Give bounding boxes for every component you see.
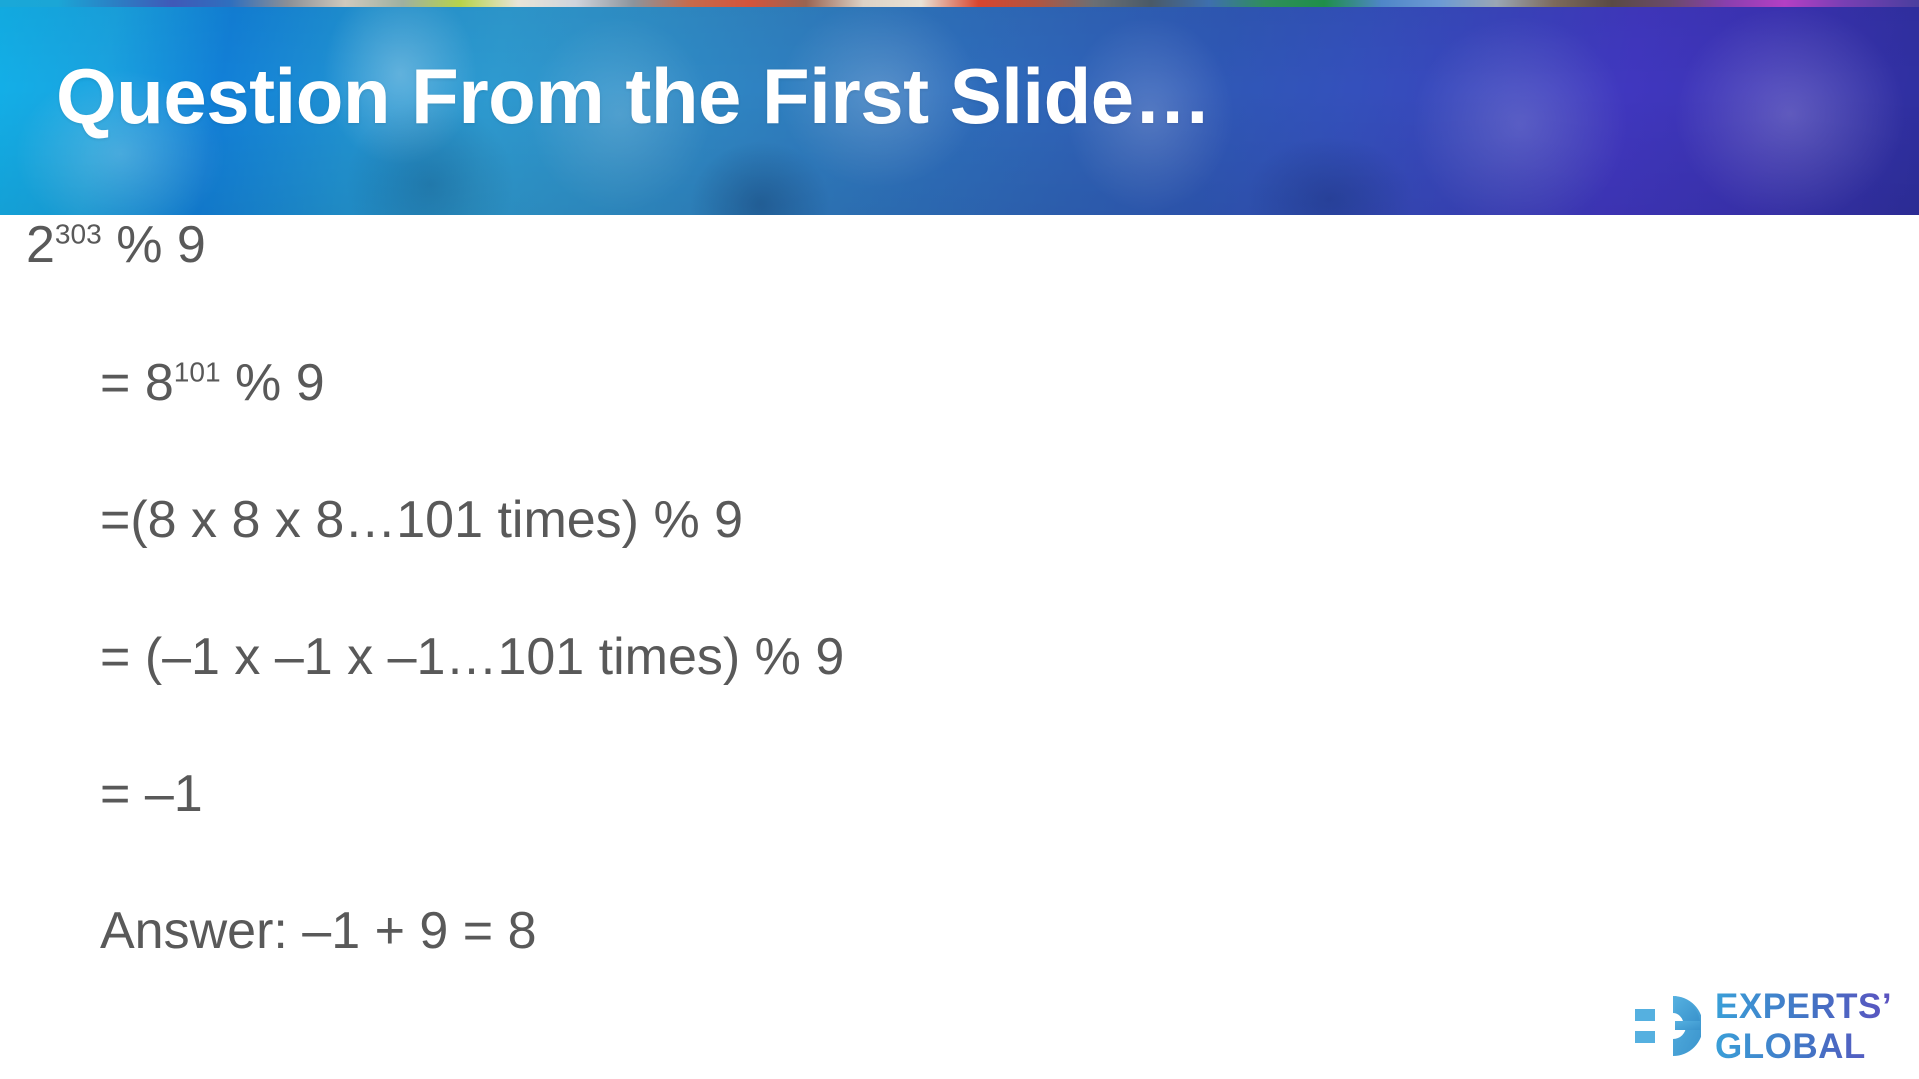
logo-line-global: GLOBAL <box>1715 1029 1892 1064</box>
page-title: Question From the First Slide… <box>56 48 1211 144</box>
equation-exponent: 101 <box>174 357 221 388</box>
equation-line-1: 2303 % 9 <box>26 215 206 275</box>
equation-line-2: = 8101 % 9 <box>100 353 325 413</box>
equation-base: = 8 <box>100 354 174 412</box>
slide: Question From the First Slide… 2303 % 9 … <box>0 0 1919 1079</box>
experts-global-logo: EXPERTS’ GLOBAL <box>1635 983 1895 1069</box>
logo-wordmark: EXPERTS’ GLOBAL <box>1715 989 1892 1064</box>
experts-global-g-mark-icon <box>1635 995 1701 1057</box>
equation-line-4: = (–1 x –1 x –1…101 times) % 9 <box>100 627 844 687</box>
equation-tail: % 9 <box>221 354 325 412</box>
equation-tail: % 9 <box>102 216 206 274</box>
equation-base: = (–1 x –1 x –1…101 times) % 9 <box>100 628 844 686</box>
logo-line-experts: EXPERTS’ <box>1715 989 1892 1024</box>
answer-line: Answer: –1 + 9 = 8 <box>100 901 537 961</box>
equation-line-5: = –1 <box>100 764 203 824</box>
equation-base: = –1 <box>100 765 203 823</box>
slide-content: 2303 % 9 = 8101 % 9 =(8 x 8 x 8…101 time… <box>0 215 1919 1079</box>
equation-line-3: =(8 x 8 x 8…101 times) % 9 <box>100 490 743 550</box>
equation-base: =(8 x 8 x 8…101 times) % 9 <box>100 491 743 549</box>
equation-base: 2 <box>26 216 55 274</box>
header-banner: Question From the First Slide… <box>0 0 1919 215</box>
equation-exponent: 303 <box>55 219 102 250</box>
header-top-color-strip <box>0 0 1919 7</box>
answer-text: Answer: –1 + 9 = 8 <box>100 902 537 960</box>
